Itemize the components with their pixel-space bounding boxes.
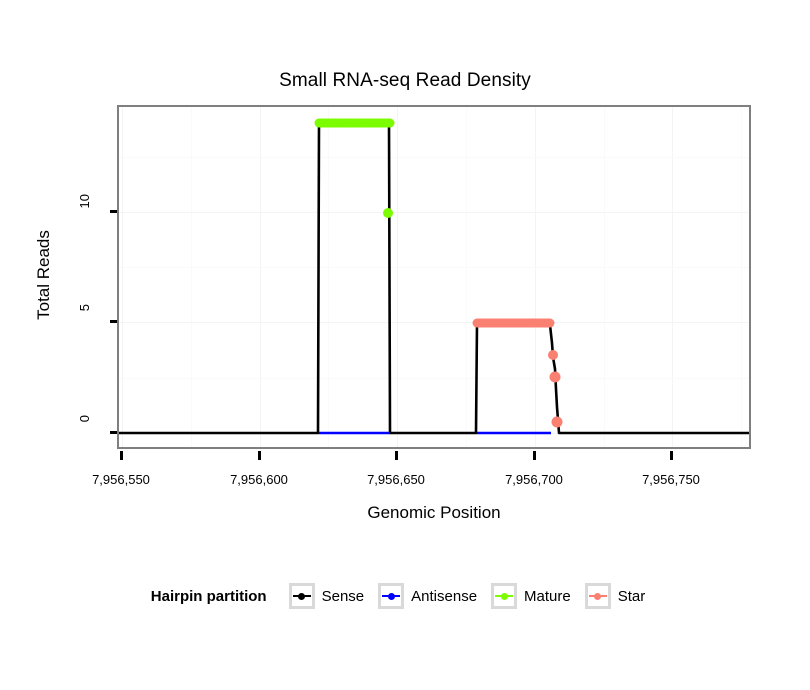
x-tick-mark-2 (395, 451, 398, 460)
legend-key-antisense (378, 583, 404, 609)
legend-label-antisense: Antisense (411, 588, 477, 605)
x-axis-title: Genomic Position (117, 503, 751, 523)
legend-key-star (585, 583, 611, 609)
x-tick-mark-0 (120, 451, 123, 460)
x-tick-mark-1 (258, 451, 261, 460)
plot-panel-inner (119, 107, 749, 447)
series-mature (316, 119, 394, 219)
data-point-star (491, 319, 500, 328)
data-point-mature (316, 119, 325, 128)
x-tick-label-4: 7,956,750 (642, 472, 700, 487)
chart-legend: Hairpin partition Sense Antisense Mature (0, 583, 810, 609)
legend-label-sense: Sense (322, 588, 365, 605)
x-tick-label-2: 7,956,650 (367, 472, 425, 487)
legend-label-star: Star (618, 588, 646, 605)
data-point-mature (372, 119, 381, 128)
data-point-star (545, 319, 554, 328)
data-point-star (483, 319, 492, 328)
data-point-star (550, 372, 561, 383)
data-point-star (499, 319, 508, 328)
series-sense (119, 123, 749, 433)
data-point-star (515, 319, 524, 328)
plot-panel (117, 105, 751, 449)
data-point-mature (358, 119, 367, 128)
y-tick-label-0: 0 (68, 424, 102, 440)
legend-key-sense (289, 583, 315, 609)
data-point-mature (330, 119, 339, 128)
series-star (475, 319, 563, 428)
legend-label-mature: Mature (524, 588, 571, 605)
x-tick-mark-3 (533, 451, 536, 460)
legend-item-sense[interactable]: Sense (289, 583, 365, 609)
chart-figure: Small RNA-seq Read Density Total Reads 0… (0, 0, 810, 690)
line-point-icon (388, 593, 395, 600)
y-tick-mark-10 (110, 210, 117, 213)
data-point-star (548, 350, 558, 360)
data-point-star (475, 319, 484, 328)
x-tick-mark-4 (670, 451, 673, 460)
y-axis-title-text: Total Reads (34, 175, 54, 375)
line-point-icon (501, 593, 508, 600)
legend-item-star[interactable]: Star (585, 583, 646, 609)
y-tick-label-5: 5 (68, 313, 102, 329)
chart-data-layer (119, 107, 749, 447)
data-point-star (531, 319, 540, 328)
data-point-mature (384, 119, 393, 128)
legend-item-antisense[interactable]: Antisense (378, 583, 477, 609)
x-tick-label-1: 7,956,600 (230, 472, 288, 487)
y-axis-title: Total Reads (34, 175, 54, 375)
x-tick-label-0: 7,956,550 (92, 472, 150, 487)
y-tick-mark-5 (110, 320, 117, 323)
line-point-icon (594, 593, 601, 600)
data-point-star (523, 319, 532, 328)
data-point-mature (383, 208, 393, 218)
data-point-star (552, 417, 563, 428)
data-point-mature (344, 119, 353, 128)
legend-key-mature (491, 583, 517, 609)
chart-title: Small RNA-seq Read Density (0, 70, 810, 92)
legend-title: Hairpin partition (151, 588, 267, 605)
y-tick-mark-0 (110, 431, 117, 434)
legend-item-mature[interactable]: Mature (491, 583, 571, 609)
line-point-icon (298, 593, 305, 600)
x-tick-label-3: 7,956,700 (505, 472, 563, 487)
data-point-star (507, 319, 516, 328)
y-tick-label-10: 10 (68, 203, 102, 219)
